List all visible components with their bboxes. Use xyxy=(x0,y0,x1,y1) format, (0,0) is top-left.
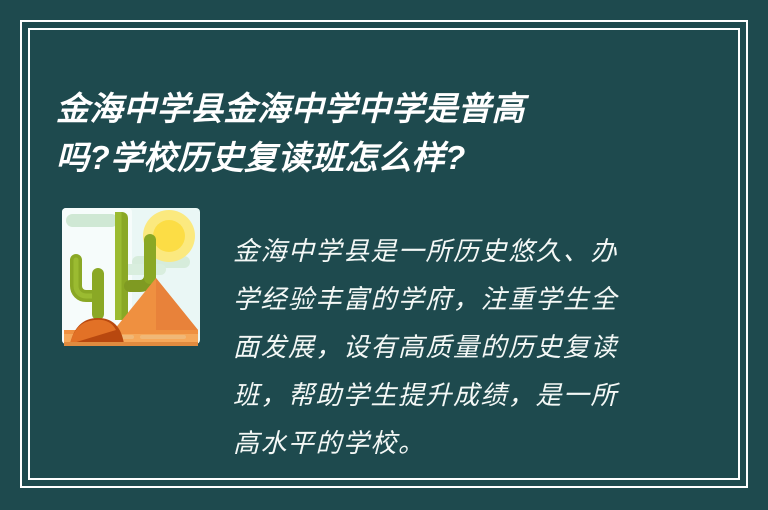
page-title-line-1: 金海中学县金海中学中学是普高 xyxy=(56,84,696,133)
poster-canvas: 金海中学县金海中学中学是普高 吗?学校历史复读班怎么样? xyxy=(0,0,768,510)
page-title-line-2: 吗?学校历史复读班怎么样? xyxy=(56,133,696,182)
body-paragraph: 金海中学县是一所历史悠久、办学经验丰富的学府，注重学生全面发展，设有高质量的历史… xyxy=(233,228,645,468)
desert-cactus-photo-icon xyxy=(56,204,206,360)
page-title: 金海中学县金海中学中学是普高 吗?学校历史复读班怎么样? xyxy=(56,84,696,182)
